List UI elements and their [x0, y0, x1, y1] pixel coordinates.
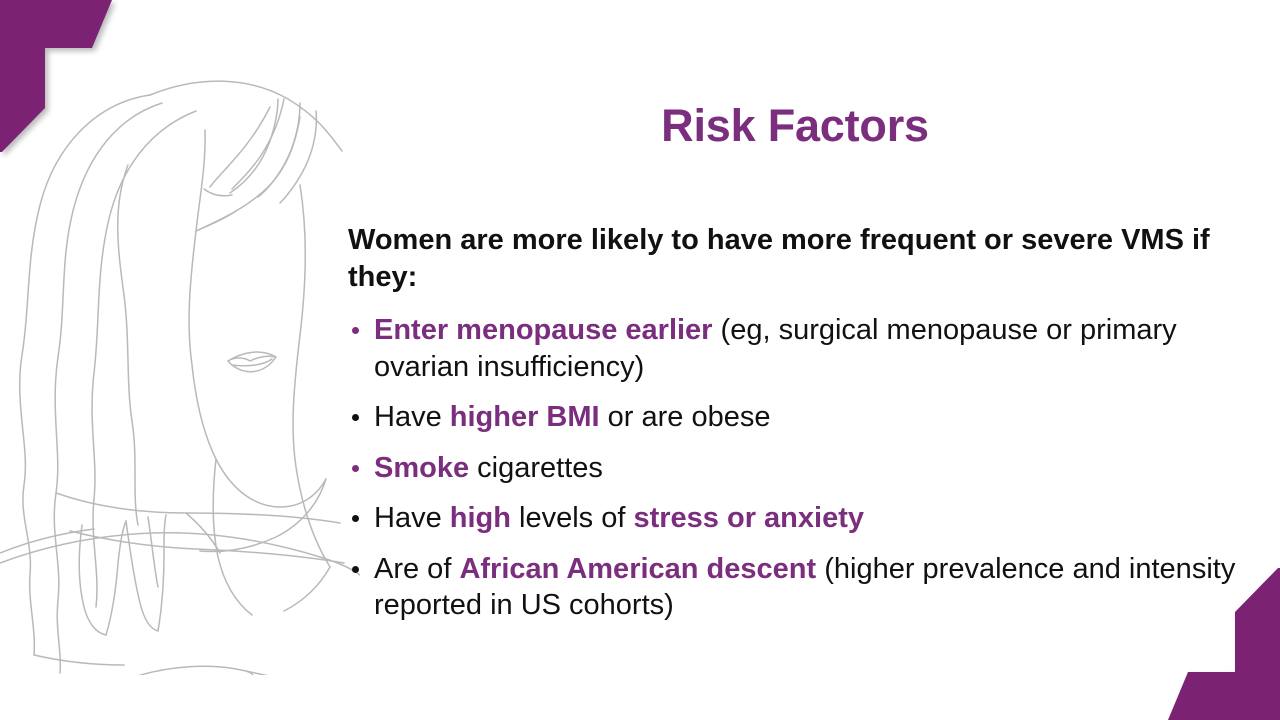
- list-item: Have high levels of stress or anxiety: [348, 500, 1246, 537]
- bullet-dot-icon: [352, 327, 359, 334]
- bullet-highlight: high: [450, 502, 511, 534]
- bullet-dot-icon: [352, 515, 359, 522]
- bullet-dot-icon: [352, 566, 359, 573]
- content-block: Women are more likely to have more frequ…: [348, 222, 1246, 638]
- risk-factor-list: Enter menopause earlier (eg, surgical me…: [348, 312, 1246, 624]
- bullet-highlight: African American descent: [459, 553, 816, 585]
- bullet-mid-text: levels of: [511, 502, 634, 534]
- bullet-prefix: Have: [374, 502, 450, 534]
- list-item: Smoke cigarettes: [348, 450, 1246, 487]
- page-title: Risk Factors: [350, 100, 1240, 152]
- slide-canvas: Risk Factors Women are more likely to ha…: [0, 0, 1280, 720]
- bullet-dot-icon: [352, 465, 359, 472]
- bullet-prefix: Have: [374, 401, 450, 433]
- bullet-highlight-secondary: stress or anxiety: [633, 502, 864, 534]
- bullet-text: or are obese: [600, 401, 771, 433]
- bullet-highlight: higher BMI: [450, 401, 600, 433]
- list-item: Enter menopause earlier (eg, surgical me…: [348, 312, 1246, 385]
- bullet-dot-icon: [352, 414, 359, 421]
- bullet-text: cigarettes: [469, 452, 603, 484]
- intro-paragraph: Women are more likely to have more frequ…: [348, 222, 1246, 296]
- bullet-prefix: Are of: [374, 553, 459, 585]
- woman-line-art-illustration: [0, 55, 360, 675]
- list-item: Are of African American descent (higher …: [348, 551, 1246, 624]
- list-item: Have higher BMI or are obese: [348, 399, 1246, 436]
- bullet-highlight: Smoke: [374, 452, 469, 484]
- bullet-highlight: Enter menopause earlier: [374, 314, 712, 346]
